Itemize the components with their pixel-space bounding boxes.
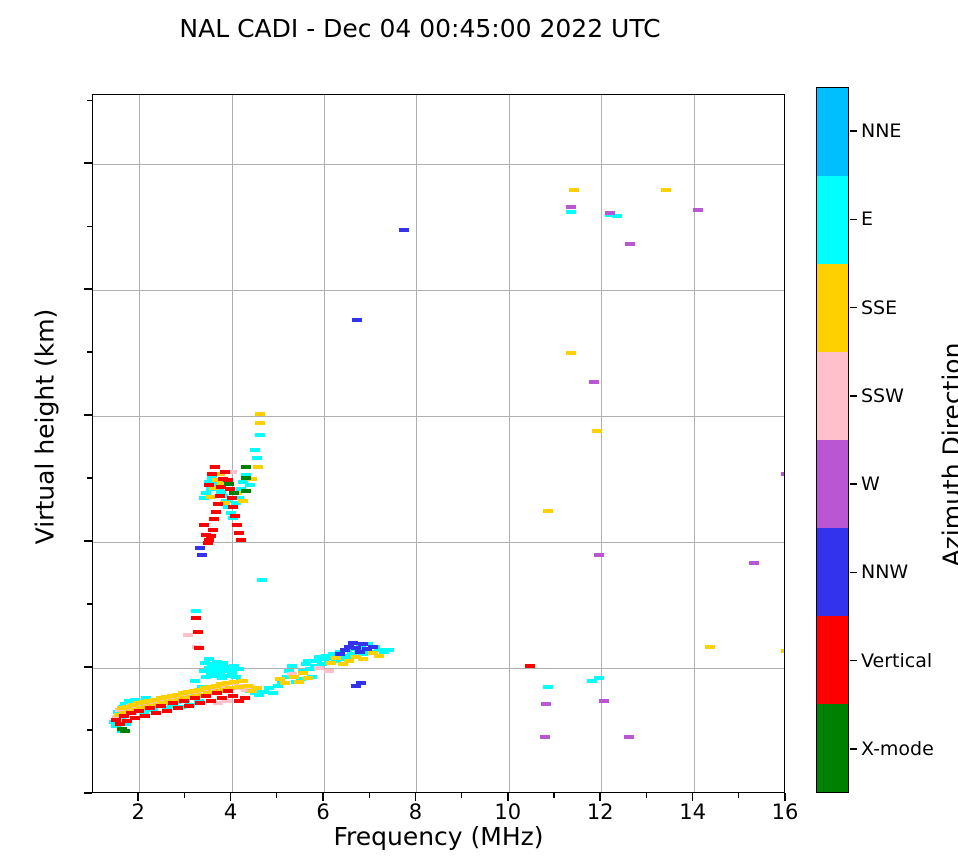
data-point-vertical bbox=[228, 694, 238, 698]
x-tick-mark bbox=[692, 793, 694, 801]
data-point-sse bbox=[289, 675, 299, 679]
x-tick-minor bbox=[369, 793, 370, 798]
data-point-sse bbox=[781, 649, 785, 653]
data-point-vertical bbox=[217, 696, 227, 700]
data-point-vertical bbox=[191, 616, 201, 620]
x-tick-minor bbox=[553, 793, 554, 798]
data-point-w bbox=[749, 561, 759, 565]
colorbar-tick bbox=[850, 748, 857, 750]
y-tick-minor bbox=[87, 351, 92, 352]
colorbar-segment-x-mode[interactable] bbox=[817, 704, 848, 792]
data-point-sse bbox=[592, 429, 602, 433]
data-point-vertical bbox=[194, 646, 204, 650]
data-point-e bbox=[190, 679, 200, 683]
data-point-vertical bbox=[227, 496, 237, 500]
data-point-e bbox=[287, 664, 297, 668]
gridline-vertical bbox=[509, 95, 510, 792]
colorbar-segment-e[interactable] bbox=[817, 176, 848, 264]
x-tick-label: 12 bbox=[570, 800, 630, 824]
data-point-e bbox=[255, 433, 265, 437]
data-point-vertical bbox=[184, 704, 194, 708]
colorbar-segment-w[interactable] bbox=[817, 440, 848, 528]
data-point-sse bbox=[253, 465, 263, 469]
data-point-e bbox=[268, 691, 278, 695]
colorbar-label-vertical: Vertical bbox=[861, 650, 932, 672]
data-point-vertical bbox=[220, 470, 230, 474]
data-point-sse bbox=[358, 657, 368, 661]
data-point-w bbox=[566, 205, 576, 209]
x-tick-label: 14 bbox=[663, 800, 723, 824]
x-tick-minor bbox=[276, 793, 277, 798]
data-point-vertical bbox=[236, 538, 246, 542]
data-point-e bbox=[566, 210, 576, 214]
data-point-nnw bbox=[399, 228, 409, 232]
data-point-vertical bbox=[130, 716, 140, 720]
data-point-vertical bbox=[156, 704, 166, 708]
data-point-e bbox=[257, 578, 267, 582]
data-point-x-mode bbox=[229, 491, 239, 495]
data-point-sse bbox=[280, 681, 290, 685]
data-point-sse bbox=[705, 645, 715, 649]
data-point-ssw bbox=[183, 633, 193, 637]
x-tick-mark bbox=[599, 793, 601, 801]
colorbar-tick bbox=[850, 130, 857, 132]
data-point-w bbox=[594, 553, 604, 557]
gridline-horizontal bbox=[93, 164, 784, 165]
data-point-sse bbox=[255, 421, 265, 425]
colorbar-label-w: W bbox=[861, 473, 880, 495]
data-point-vertical bbox=[190, 696, 200, 700]
data-point-vertical bbox=[212, 691, 222, 695]
data-point-sse bbox=[344, 659, 354, 663]
data-point-sse bbox=[255, 412, 265, 416]
data-point-vertical bbox=[204, 483, 214, 487]
x-tick-mark bbox=[137, 793, 139, 801]
data-point-x-mode bbox=[224, 482, 234, 486]
data-point-vertical bbox=[240, 696, 250, 700]
colorbar-tick bbox=[850, 219, 857, 221]
y-tick-minor bbox=[87, 603, 92, 604]
data-point-w bbox=[693, 208, 703, 212]
x-tick-label: 10 bbox=[478, 800, 538, 824]
colorbar-tick bbox=[850, 660, 857, 662]
data-point-e bbox=[245, 483, 255, 487]
data-point-vertical bbox=[162, 709, 172, 713]
data-point-vertical bbox=[201, 533, 211, 537]
page-title: NAL CADI - Dec 04 00:45:00 2022 UTC bbox=[0, 14, 840, 43]
data-point-vertical bbox=[206, 699, 216, 703]
data-point-e bbox=[384, 648, 394, 652]
data-point-sse bbox=[661, 188, 671, 192]
data-point-nnw bbox=[195, 546, 205, 550]
data-point-e bbox=[250, 448, 260, 452]
data-point-e bbox=[191, 609, 201, 613]
gridline-vertical bbox=[694, 95, 695, 792]
data-point-nnw bbox=[356, 681, 366, 685]
y-tick-mark bbox=[84, 540, 92, 542]
gridline-vertical bbox=[324, 95, 325, 792]
data-point-sse bbox=[338, 662, 348, 666]
data-point-nnw bbox=[197, 553, 207, 557]
x-tick-minor bbox=[461, 793, 462, 798]
data-point-e bbox=[234, 667, 244, 671]
data-point-vertical bbox=[201, 694, 211, 698]
gridline-vertical bbox=[139, 95, 140, 792]
gridline-horizontal bbox=[93, 668, 784, 669]
data-point-sse bbox=[326, 661, 336, 665]
data-point-w bbox=[781, 472, 785, 476]
data-point-vertical bbox=[199, 523, 209, 527]
data-point-vertical bbox=[232, 523, 242, 527]
data-point-x-mode bbox=[241, 489, 251, 493]
x-tick-mark bbox=[784, 793, 786, 801]
x-tick-label: 6 bbox=[293, 800, 353, 824]
data-point-w bbox=[541, 702, 551, 706]
data-point-vertical bbox=[230, 514, 240, 518]
data-point-vertical bbox=[193, 630, 203, 634]
colorbar-segment-sse[interactable] bbox=[817, 264, 848, 352]
x-tick-mark bbox=[415, 793, 417, 801]
colorbar-label-ssw: SSW bbox=[861, 385, 904, 407]
data-point-x-mode bbox=[241, 465, 251, 469]
gridline-horizontal bbox=[93, 416, 784, 417]
y-tick-mark bbox=[84, 414, 92, 416]
data-point-vertical bbox=[195, 701, 205, 705]
x-tick-minor bbox=[646, 793, 647, 798]
data-point-sse bbox=[238, 679, 248, 683]
data-point-sse bbox=[238, 499, 248, 503]
colorbar-tick bbox=[850, 483, 857, 485]
x-tick-minor bbox=[184, 793, 185, 798]
data-point-vertical bbox=[228, 505, 238, 509]
data-point-vertical bbox=[215, 494, 225, 498]
azimuth-colorbar[interactable] bbox=[816, 87, 849, 793]
x-tick-label: 4 bbox=[201, 800, 261, 824]
data-point-sse bbox=[566, 351, 576, 355]
y-tick-mark bbox=[84, 666, 92, 668]
x-tick-label: 8 bbox=[385, 800, 445, 824]
data-point-sse bbox=[569, 188, 579, 192]
data-point-sse bbox=[252, 686, 262, 690]
data-point-sse bbox=[298, 671, 308, 675]
x-tick-mark bbox=[230, 793, 232, 801]
colorbar-label-x-mode: X-mode bbox=[861, 738, 934, 760]
data-point-vertical bbox=[134, 709, 144, 713]
colorbar-segment-nnw[interactable] bbox=[817, 528, 848, 616]
gridline-vertical bbox=[416, 95, 417, 792]
data-point-vertical bbox=[179, 699, 189, 703]
y-tick-minor bbox=[87, 477, 92, 478]
data-point-vertical bbox=[145, 706, 155, 710]
data-point-e bbox=[252, 456, 262, 460]
y-tick-mark bbox=[84, 162, 92, 164]
y-tick-mark bbox=[84, 288, 92, 290]
x-tick-mark bbox=[507, 793, 509, 801]
data-point-ssw bbox=[324, 669, 334, 673]
data-point-vertical bbox=[173, 706, 183, 710]
data-point-sse bbox=[543, 509, 553, 513]
data-point-vertical bbox=[209, 517, 219, 521]
data-point-w bbox=[589, 380, 599, 384]
data-point-vertical bbox=[208, 528, 218, 532]
data-point-x-mode bbox=[120, 729, 130, 733]
colorbar-label-sse: SSE bbox=[861, 297, 897, 319]
data-point-nnw bbox=[352, 318, 362, 322]
data-point-nnw bbox=[335, 652, 345, 656]
data-point-vertical bbox=[168, 701, 178, 705]
colorbar-segment-ssw[interactable] bbox=[817, 352, 848, 440]
colorbar-tick bbox=[850, 395, 857, 397]
colorbar-segment-vertical[interactable] bbox=[817, 616, 848, 704]
y-tick-mark bbox=[84, 792, 92, 794]
colorbar-label-nnw: NNW bbox=[861, 561, 908, 583]
x-tick-label: 16 bbox=[755, 800, 815, 824]
colorbar-label-e: E bbox=[861, 208, 873, 230]
data-point-vertical bbox=[140, 714, 150, 718]
data-point-vertical bbox=[211, 510, 221, 514]
y-tick-minor bbox=[87, 729, 92, 730]
y-tick-minor bbox=[87, 226, 92, 227]
data-point-vertical bbox=[213, 502, 223, 506]
ionogram-figure: NAL CADI - Dec 04 00:45:00 2022 UTC 0200… bbox=[0, 0, 958, 857]
colorbar-label-nne: NNE bbox=[861, 120, 901, 142]
gridline-horizontal bbox=[93, 290, 784, 291]
gridline-horizontal bbox=[93, 542, 784, 543]
data-point-w bbox=[599, 699, 609, 703]
data-point-nnw bbox=[348, 641, 358, 645]
colorbar-tick bbox=[850, 307, 857, 309]
colorbar-segment-nne[interactable] bbox=[817, 88, 848, 176]
x-tick-mark bbox=[322, 793, 324, 801]
data-point-e bbox=[543, 685, 553, 689]
data-point-sse bbox=[374, 654, 384, 658]
data-point-vertical bbox=[203, 541, 213, 545]
data-point-vertical bbox=[151, 711, 161, 715]
colorbar-title: Azimuth Direction bbox=[938, 145, 958, 765]
y-tick-minor bbox=[87, 100, 92, 101]
plot-area bbox=[92, 94, 785, 793]
data-point-vertical bbox=[525, 664, 535, 668]
data-point-w bbox=[540, 735, 550, 739]
data-point-w bbox=[624, 735, 634, 739]
colorbar-tick bbox=[850, 572, 857, 574]
x-tick-label: 2 bbox=[108, 800, 168, 824]
data-point-e bbox=[594, 676, 604, 680]
y-axis-title: Virtual height (km) bbox=[31, 147, 60, 707]
data-point-nnw bbox=[340, 648, 350, 652]
data-point-w bbox=[605, 211, 615, 215]
data-point-sse bbox=[303, 676, 313, 680]
data-point-sse bbox=[294, 680, 304, 684]
data-point-sse bbox=[331, 656, 341, 660]
data-point-vertical bbox=[210, 465, 220, 469]
data-point-vertical bbox=[223, 689, 233, 693]
x-axis-title: Frequency (MHz) bbox=[92, 822, 785, 851]
data-point-nnw bbox=[368, 645, 378, 649]
data-point-w bbox=[625, 242, 635, 246]
data-point-vertical bbox=[234, 531, 244, 535]
x-tick-minor bbox=[738, 793, 739, 798]
data-point-vertical bbox=[207, 472, 217, 476]
gridline-vertical bbox=[601, 95, 602, 792]
data-point-x-mode bbox=[241, 476, 251, 480]
